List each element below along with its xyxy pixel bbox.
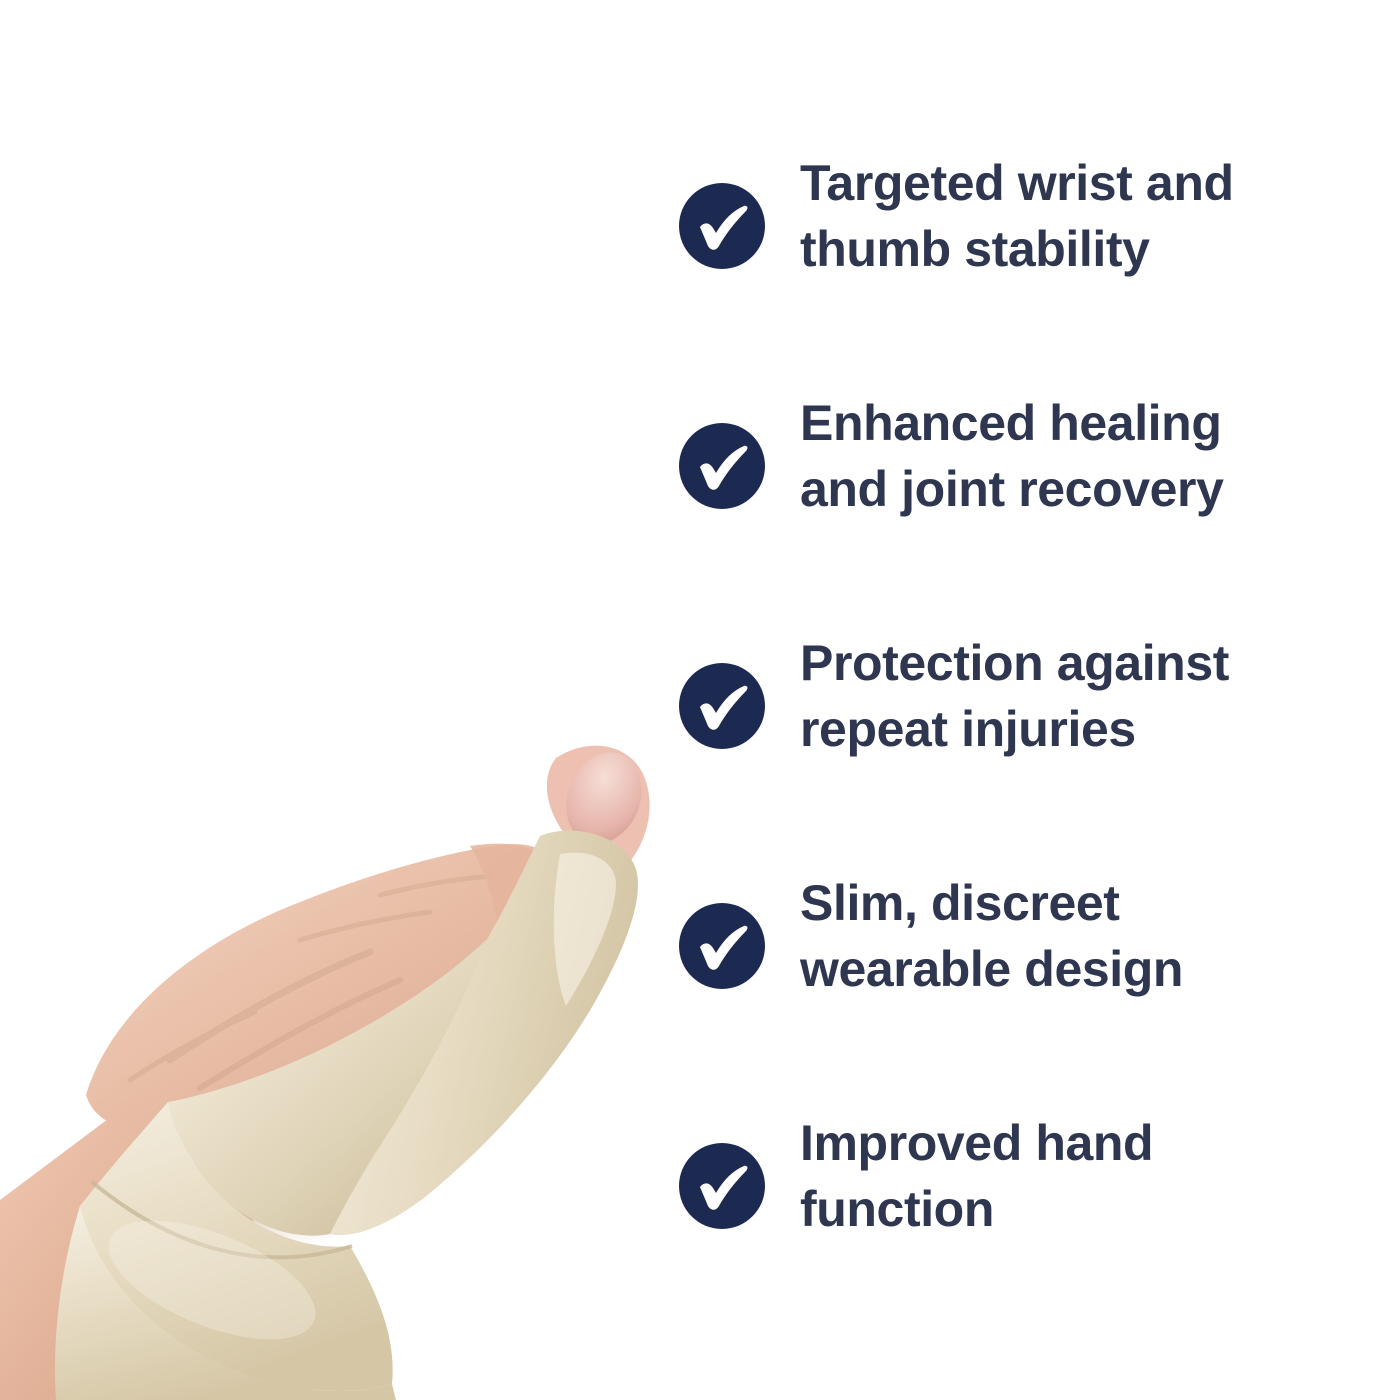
check-circle-icon xyxy=(678,662,766,750)
benefit-item-1: Targeted wrist and thumb stability xyxy=(672,150,1372,390)
product-infographic: Targeted wrist and thumb stability Enhan… xyxy=(0,0,1400,1400)
benefit-item-5: Improved hand function xyxy=(672,1110,1372,1350)
benefit-label: Protection against repeat injuries xyxy=(800,630,1360,762)
benefit-item-3: Protection against repeat injuries xyxy=(672,630,1372,870)
benefit-item-4: Slim, discreet wearable design xyxy=(672,870,1372,1110)
check-circle-icon xyxy=(678,902,766,990)
product-photo xyxy=(0,640,700,1400)
benefit-label: Improved hand function xyxy=(800,1110,1360,1242)
check-circle-icon xyxy=(678,422,766,510)
benefits-list: Targeted wrist and thumb stability Enhan… xyxy=(672,150,1372,1350)
benefit-label: Enhanced healing and joint recovery xyxy=(800,390,1360,522)
benefit-label: Targeted wrist and thumb stability xyxy=(800,150,1360,282)
benefit-label: Slim, discreet wearable design xyxy=(800,870,1360,1002)
benefit-item-2: Enhanced healing and joint recovery xyxy=(672,390,1372,630)
check-circle-icon xyxy=(678,1142,766,1230)
check-circle-icon xyxy=(678,182,766,270)
